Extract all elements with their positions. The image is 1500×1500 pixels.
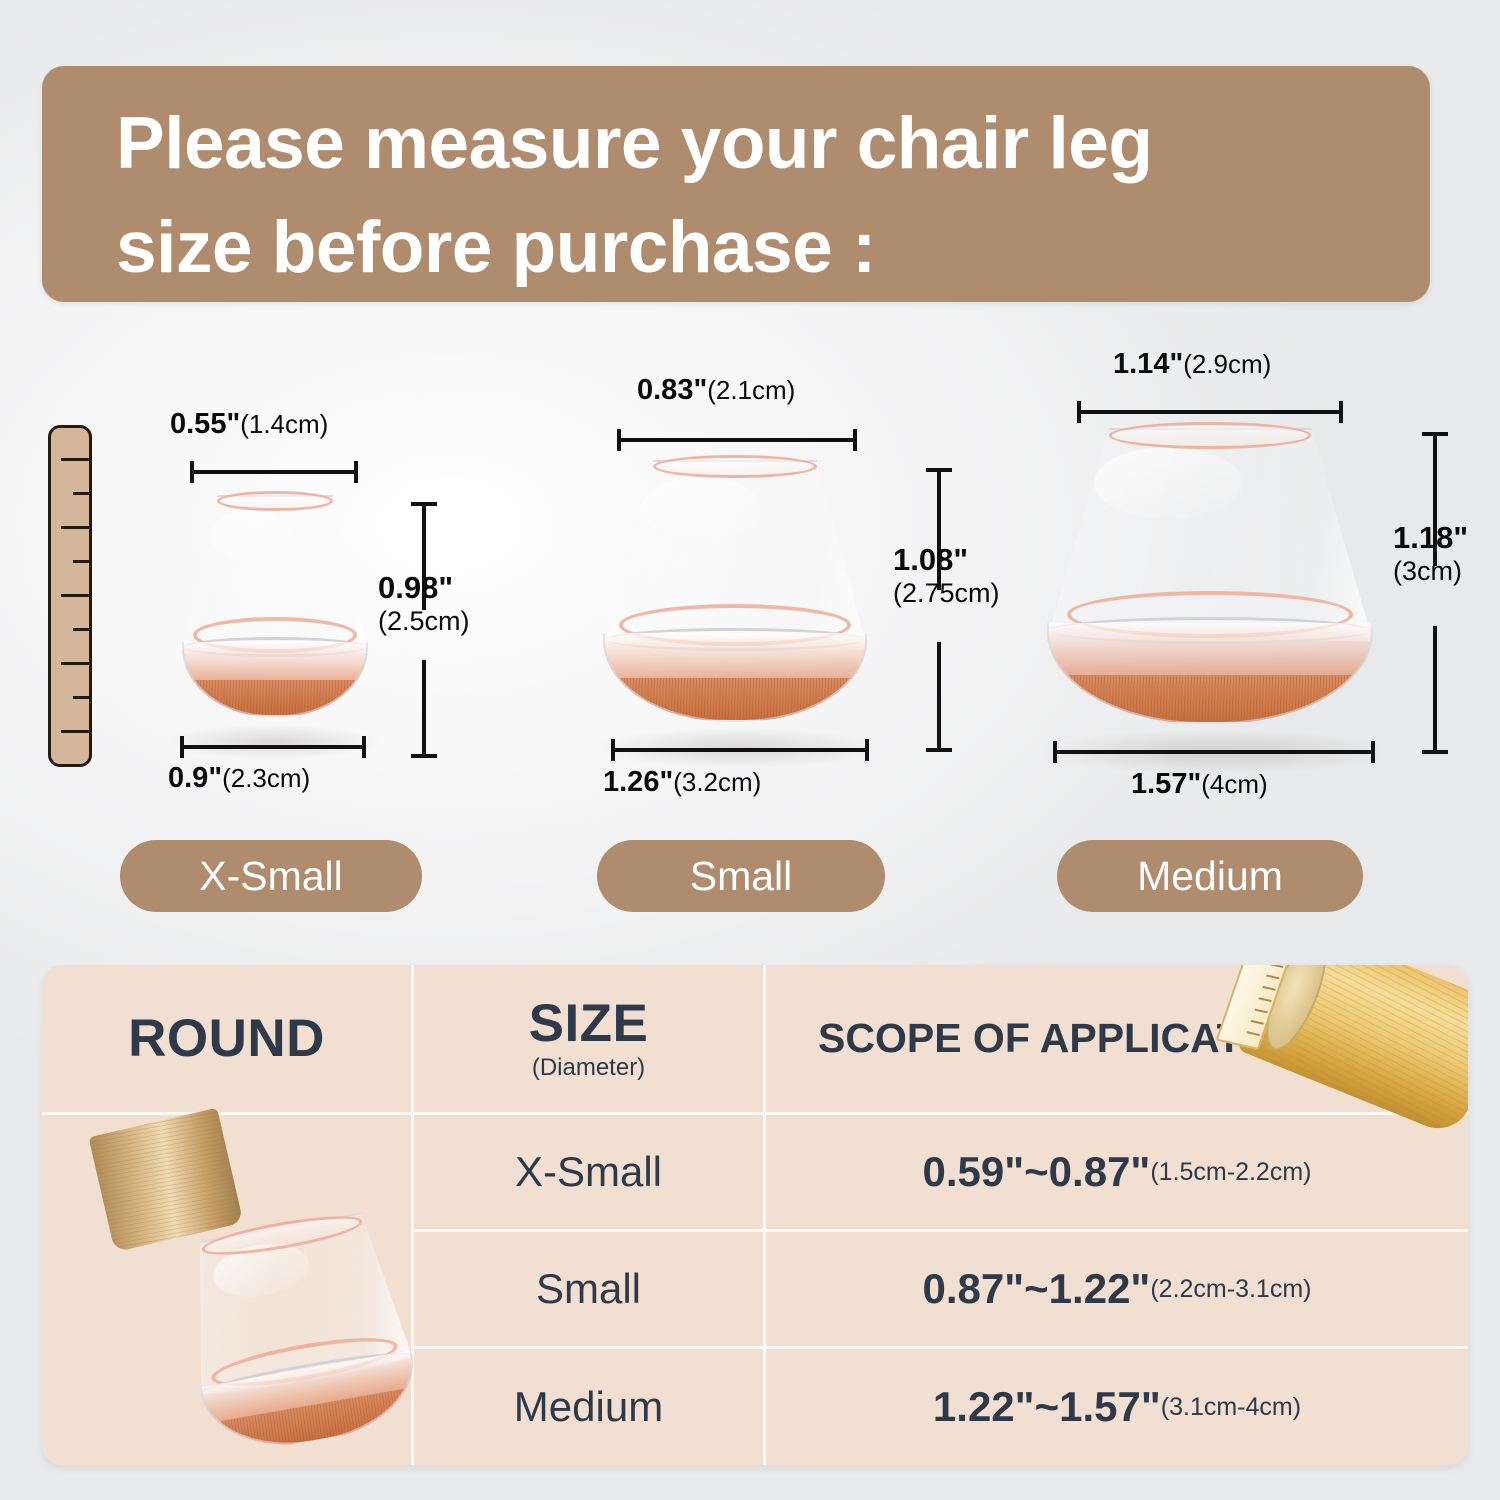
table-header-shape-label: ROUND [128,1008,325,1069]
top-diameter-cm: (2.9cm) [1183,349,1271,379]
bottom-diameter-inch: 0.9" [168,762,222,794]
bottom-diameter-label-small: 1.26"(3.2cm) [603,766,761,799]
table-header-shape: ROUND [42,965,414,1115]
table-row: 0.87"~1.22"(2.2cm-3.1cm) [766,1232,1468,1349]
chair-leg-cap-x-small [182,495,368,717]
scope-inch-value: 1.22"~1.57" [933,1383,1161,1431]
golden-chair-leg-icon [1236,965,1468,1138]
height-inch: 0.98" [378,570,470,606]
header-line-1: Please measure your chair leg [116,92,1372,196]
ruler-tick [1258,997,1271,1002]
scope-metric-value: (1.5cm-2.2cm) [1150,1158,1311,1187]
top-diameter-line-x-small [190,470,358,474]
ruler-tick [61,594,89,597]
ruler-tick [1266,975,1279,980]
height-line-bottom-x-small [422,660,426,758]
cap-gloss [641,477,761,540]
scope-metric-value: (2.2cm-3.1cm) [1150,1275,1311,1304]
wooden-chair-leg-icon [88,1108,243,1253]
ruler-tick [73,492,89,495]
header-line-2: size before purchase : [116,196,1372,300]
cap-top-rim [1109,422,1311,449]
table-row: X-Small [414,1115,766,1232]
ruler-tick [61,662,89,665]
bottom-diameter-line-medium [1053,750,1375,754]
bottom-diameter-cm: (4cm) [1201,769,1267,799]
felt-pad [216,1388,413,1456]
cap-gloss [209,510,293,564]
size-pill-small[interactable]: Small [597,840,885,912]
top-diameter-label-medium: 1.14"(2.9cm) [1113,348,1271,381]
size-value: X-Small [515,1148,662,1196]
height-cm: (2.5cm) [378,606,470,637]
top-diameter-label-x-small: 0.55"(1.4cm) [170,408,328,441]
size-pill-label: Medium [1137,853,1283,900]
chair-leg-cap-medium [1047,428,1373,724]
product-medium: 1.14"(2.9cm) 1.18" (3cm) 1.57"(4cm) Medi… [1035,330,1495,930]
bottom-diameter-label-medium: 1.57"(4cm) [1131,768,1268,801]
bottom-diameter-cm: (3.2cm) [673,767,761,797]
top-diameter-label-small: 0.83"(2.1cm) [637,374,795,407]
cap-shadow [169,725,379,759]
bottom-diameter-inch: 1.57" [1131,768,1201,800]
felt-pad [1062,675,1358,722]
felt-pad [615,678,854,720]
top-diameter-cm: (1.4cm) [240,409,328,439]
bottom-diameter-cm: (2.3cm) [222,763,310,793]
ruler-tick [1262,986,1275,991]
scope-metric-value: (3.1cm-4cm) [1161,1393,1301,1422]
table-header-size-label: SIZE [529,996,649,1051]
header-banner: Please measure your chair leg size befor… [42,66,1430,302]
size-pill-x-small[interactable]: X-Small [120,840,422,912]
ruler-tick [1270,965,1283,968]
top-diameter-cm: (2.1cm) [707,375,795,405]
cap-gloss [1094,447,1242,519]
height-inch: 1.18" [1393,520,1468,556]
bottom-diameter-inch: 1.26" [603,766,673,798]
ruler-tick [73,560,89,563]
table-cell-illustration [42,1115,414,1465]
height-label-x-small: 0.98" (2.5cm) [378,570,470,637]
height-cm: (2.75cm) [893,578,1000,609]
cap-base [182,642,368,717]
measuring-ruler-icon [48,425,92,767]
top-diameter-inch: 1.14" [1113,348,1183,380]
table-row: Small [414,1232,766,1349]
ruler-tick [1254,1009,1267,1014]
ruler-tick [1251,1020,1264,1025]
product-small: 0.83"(2.1cm) 1.08" (2.75cm) 1.26"(3.2cm)… [575,330,1005,930]
table-row: Medium [414,1349,766,1465]
ruler-tick [61,730,89,733]
bottom-diameter-label-x-small: 0.9"(2.3cm) [168,762,310,795]
size-pill-medium[interactable]: Medium [1057,840,1363,912]
size-value: Medium [514,1383,663,1431]
size-pill-label: X-Small [199,853,343,900]
height-label-small: 1.08" (2.75cm) [893,542,1000,609]
size-pill-label: Small [690,853,793,900]
cap-top-rim [217,491,332,511]
product-showcase: 0.55"(1.4cm) 0.98" (2.5cm) 0.9"(2.3cm) X… [0,330,1500,930]
ruler-tick [73,628,89,631]
chair-leg-cap-illustration [175,1208,425,1460]
product-x-small: 0.55"(1.4cm) 0.98" (2.5cm) 0.9"(2.3cm) X… [120,330,520,930]
table-row: 1.22"~1.57"(3.1cm-4cm) [766,1349,1468,1465]
size-spec-table: ROUND SIZE (Diameter) SCOPE OF APPLICATI… [42,965,1468,1465]
felt-pad [191,680,358,715]
top-diameter-inch: 0.55" [170,408,240,440]
height-cm: (3cm) [1393,556,1468,587]
ruler-tick [73,696,89,699]
bottom-diameter-line-small [611,748,869,752]
height-line-bottom-small [937,642,941,752]
bottom-diameter-line-x-small [180,745,366,749]
ruler-tick [61,458,89,461]
cap-base [1047,623,1373,724]
ruler-tick [1247,1031,1260,1036]
table-header-size-sub: (Diameter) [532,1056,645,1081]
height-inch: 1.08" [893,542,1000,578]
top-diameter-inch: 0.83" [637,374,707,406]
scope-inch-value: 0.87"~1.22" [923,1265,1151,1313]
height-line-bottom-medium [1433,626,1437,754]
height-label-medium: 1.18" (3cm) [1393,520,1468,587]
top-diameter-line-medium [1077,410,1343,414]
table-row: 0.59"~0.87"(1.5cm-2.2cm) [766,1115,1468,1232]
table-header-scope: SCOPE OF APPLICATION [766,965,1468,1115]
scope-inch-value: 0.59"~0.87" [923,1148,1151,1196]
cap-top-rim [653,455,817,479]
chair-leg-cap-small [603,460,867,722]
top-diameter-line-small [617,438,857,442]
table-header-size: SIZE (Diameter) [414,965,766,1115]
ruler-tick [61,526,89,529]
cap-base [603,633,867,722]
size-value: Small [536,1265,641,1313]
